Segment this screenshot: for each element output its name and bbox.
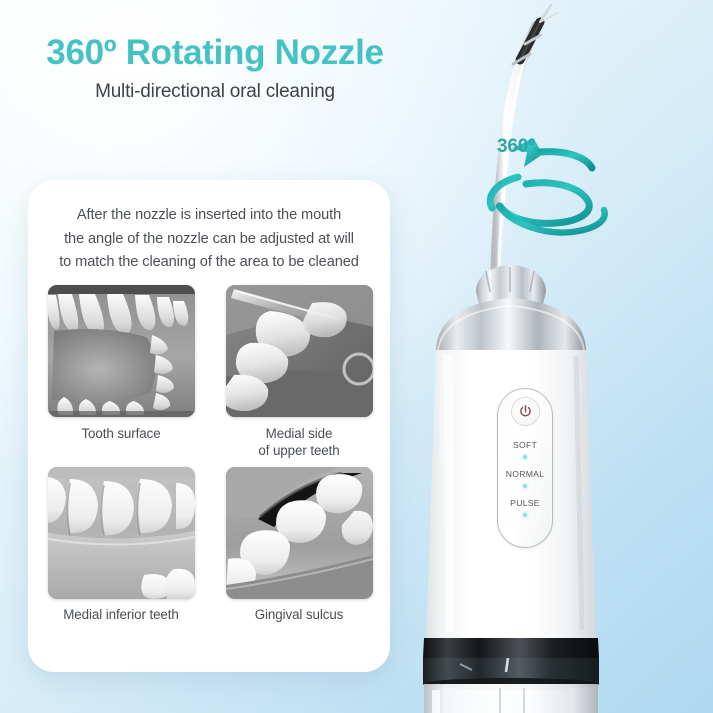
tile-caption: Gingival sulcus [255, 606, 344, 623]
product-marketing-image: 360º Rotating Nozzle Multi-directional o… [0, 0, 713, 713]
usage-tile-grid: Tooth surface [45, 285, 375, 623]
tooth-surface-photo [48, 285, 195, 417]
page-title: 360º Rotating Nozzle [0, 34, 430, 72]
usage-tile-gingival-sulcus: Gingival sulcus [223, 467, 375, 623]
header-block: 360º Rotating Nozzle Multi-directional o… [0, 34, 430, 103]
page-subtitle: Multi-directional oral cleaning [0, 81, 430, 103]
oral-irrigator-device [400, 0, 713, 713]
card-description-line-1: After the nozzle is inserted into the mo… [44, 204, 374, 228]
device-control-panel[interactable]: SOFT NORMAL PULSE [497, 388, 553, 548]
usage-tile-medial-upper: Medial side of upper teeth [223, 285, 375, 459]
medial-upper-teeth-photo [226, 285, 373, 417]
mode-soft-led [523, 455, 527, 459]
gingival-sulcus-photo [226, 467, 373, 599]
mode-pulse-led [523, 513, 527, 517]
card-description: After the nozzle is inserted into the mo… [28, 180, 390, 275]
medial-inferior-teeth-photo [48, 467, 195, 599]
usage-tile-tooth-surface: Tooth surface [45, 285, 197, 459]
power-button[interactable] [512, 398, 539, 425]
card-description-line-2: the angle of the nozzle can be adjusted … [44, 228, 374, 252]
tile-caption: Medial inferior teeth [63, 606, 179, 623]
power-icon [518, 404, 533, 419]
mode-normal[interactable]: NORMAL [506, 470, 545, 488]
info-card: After the nozzle is inserted into the mo… [28, 180, 390, 672]
usage-tile-medial-inferior: Medial inferior teeth [45, 467, 197, 623]
mode-soft[interactable]: SOFT [513, 441, 537, 459]
mode-soft-label: SOFT [513, 441, 537, 450]
mode-pulse[interactable]: PULSE [510, 499, 540, 517]
card-description-line-3: to match the cleaning of the area to be … [44, 251, 374, 275]
tile-caption: Tooth surface [81, 425, 160, 442]
mode-pulse-label: PULSE [510, 499, 540, 508]
tile-caption: Medial side of upper teeth [258, 425, 339, 459]
mode-normal-led [523, 484, 527, 488]
mode-normal-label: NORMAL [506, 470, 545, 479]
rotation-badge: 360º [497, 136, 535, 158]
